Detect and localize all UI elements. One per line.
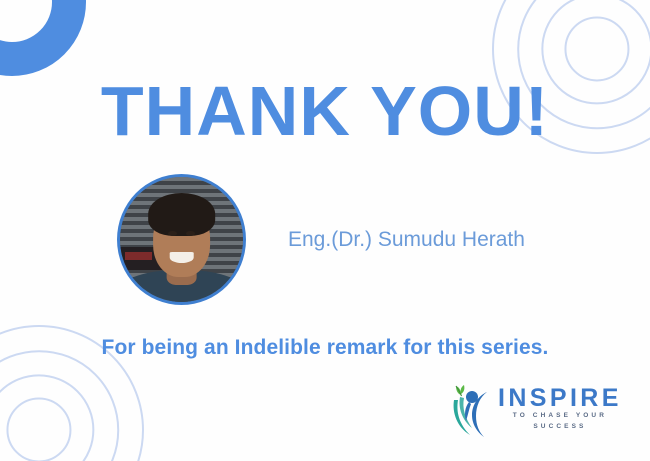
avatar [117,174,246,305]
inspire-logo-text: INSPIRE TO CHASE YOUR SUCCESS [498,386,622,431]
ring-inner [564,16,629,81]
page-title: THANK YOU! [0,76,650,146]
portrait-smile [169,252,194,263]
inspire-logo: INSPIRE TO CHASE YOUR SUCCESS [447,377,625,441]
inspire-tagline-line-1: TO CHASE YOUR [513,411,607,421]
portrait-background-accent [125,252,152,260]
inspire-tagline-line-2: SUCCESS [533,422,586,432]
inspire-wordmark: INSPIRE [498,386,622,411]
speaker-name: Eng.(Dr.) Sumudu Herath [288,228,525,252]
decorative-arc-top-left [0,0,86,76]
thank-you-slide: THANK YOU! Eng.(Dr.) Sumudu Herath For b… [0,0,650,461]
appreciation-caption: For being an Indelible remark for this s… [0,336,650,360]
inspire-logo-mark-icon [447,380,493,438]
portrait-eye-left [168,231,177,236]
portrait-hair [148,193,216,236]
portrait-eye-right [186,231,195,236]
ring-inner [6,397,71,461]
